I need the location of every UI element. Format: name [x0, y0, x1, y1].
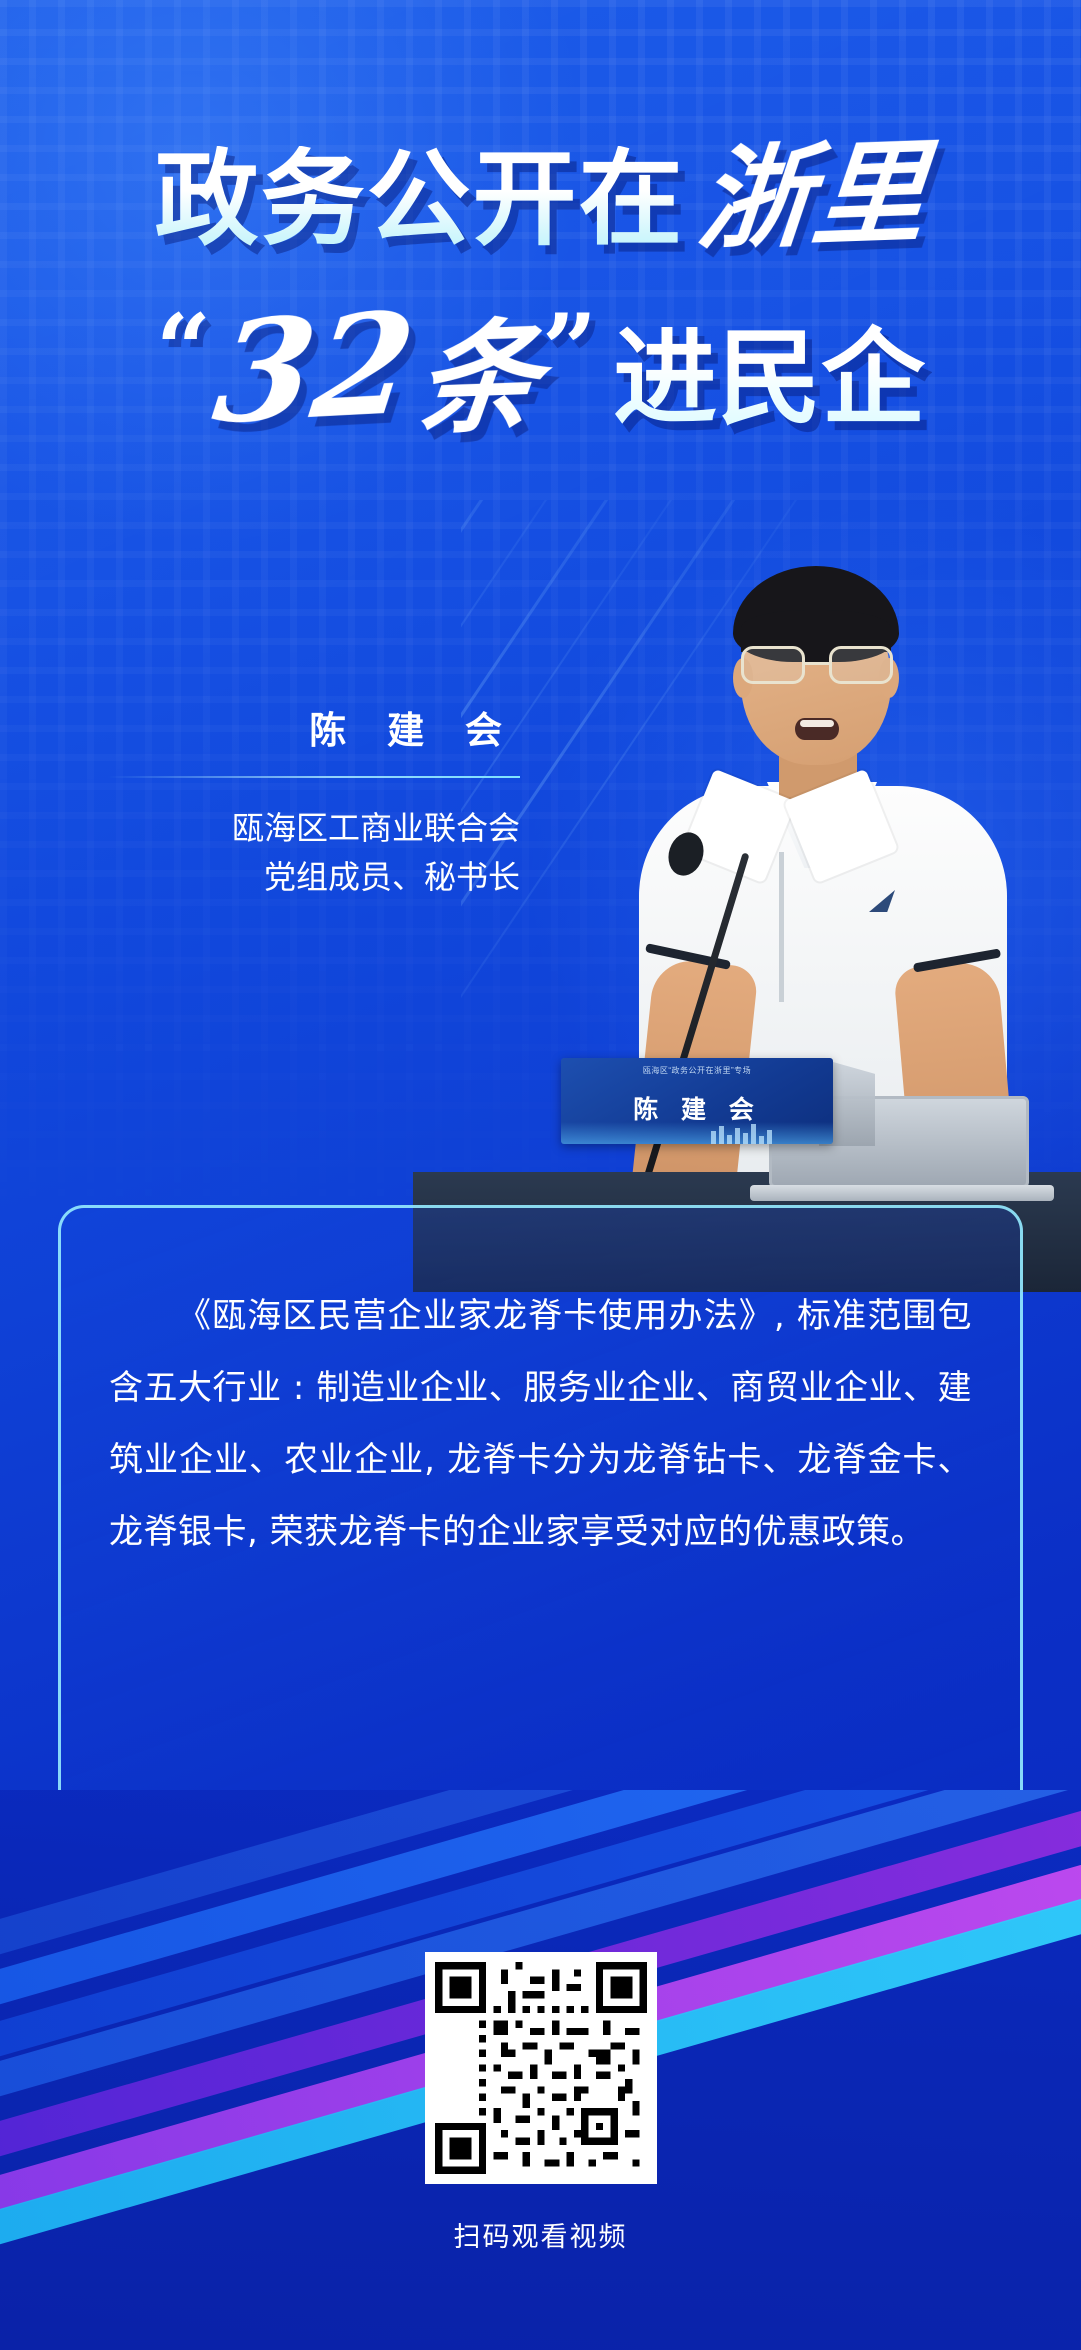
nameplate-header-text: 瓯海区“政务公开在浙里”专场 [573, 1065, 821, 1081]
qr-section: 扫码观看视频 [0, 1952, 1081, 2254]
quote-body-text: 《瓯海区民营企业家龙脊卡使用办法》, 标准范围包含五大行业 : 制造业企业、服务… [61, 1208, 1020, 1568]
quote-close-mark: ” [542, 312, 597, 389]
quote-card: 《瓯海区民营企业家龙脊卡使用办法》, 标准范围包含五大行业 : 制造业企业、服务… [58, 1205, 1023, 1877]
qr-code-icon [435, 1962, 647, 2174]
qr-code[interactable] [425, 1952, 657, 2184]
speaker-role-line-1: 瓯海区工商业联合会 [108, 804, 520, 853]
title-solid-text-2: 进民企 [613, 293, 925, 444]
nameplate: 瓯海区“政务公开在浙里”专场 陈 建 会 [561, 1058, 833, 1144]
speaker-role: 瓯海区工商业联合会 党组成员、秘书长 [108, 804, 520, 901]
speaker-info-block: 陈 建 会 瓯海区工商业联合会 党组成员、秘书长 [108, 700, 520, 901]
speaker-name: 陈 建 会 [108, 700, 520, 754]
nameplate-skyline-decoration [561, 1122, 833, 1144]
title-brush-number: 32 [202, 282, 427, 456]
title-line-2: “ 32 条 ” 进民企 [0, 280, 1081, 457]
title-line-1: 政务公开在 浙里 [0, 140, 1081, 254]
poster-title: 政务公开在 浙里 “ 32 条 ” 进民企 [0, 140, 1081, 457]
speaker-divider [108, 776, 520, 778]
speaker-role-line-2: 党组成员、秘书长 [108, 853, 520, 902]
quote-open-mark: “ [156, 312, 211, 389]
eyeglasses-icon [741, 646, 893, 686]
nameplate-name: 陈 建 会 [561, 1090, 833, 1126]
mouth [795, 718, 839, 740]
qr-caption: 扫码观看视频 [0, 2215, 1081, 2254]
title-solid-text: 政务公开在 [154, 146, 684, 252]
shirt-placket [779, 852, 784, 1002]
poster-root: 政务公开在 浙里 “ 32 条 ” 进民企 [0, 0, 1081, 2350]
title-brush-zheli: 浙里 [693, 136, 932, 258]
speaker-photo: 瓯海区“政务公开在浙里”专场 陈 建 会 [573, 560, 1043, 1260]
title-brush-tiao: 条 [408, 278, 549, 459]
